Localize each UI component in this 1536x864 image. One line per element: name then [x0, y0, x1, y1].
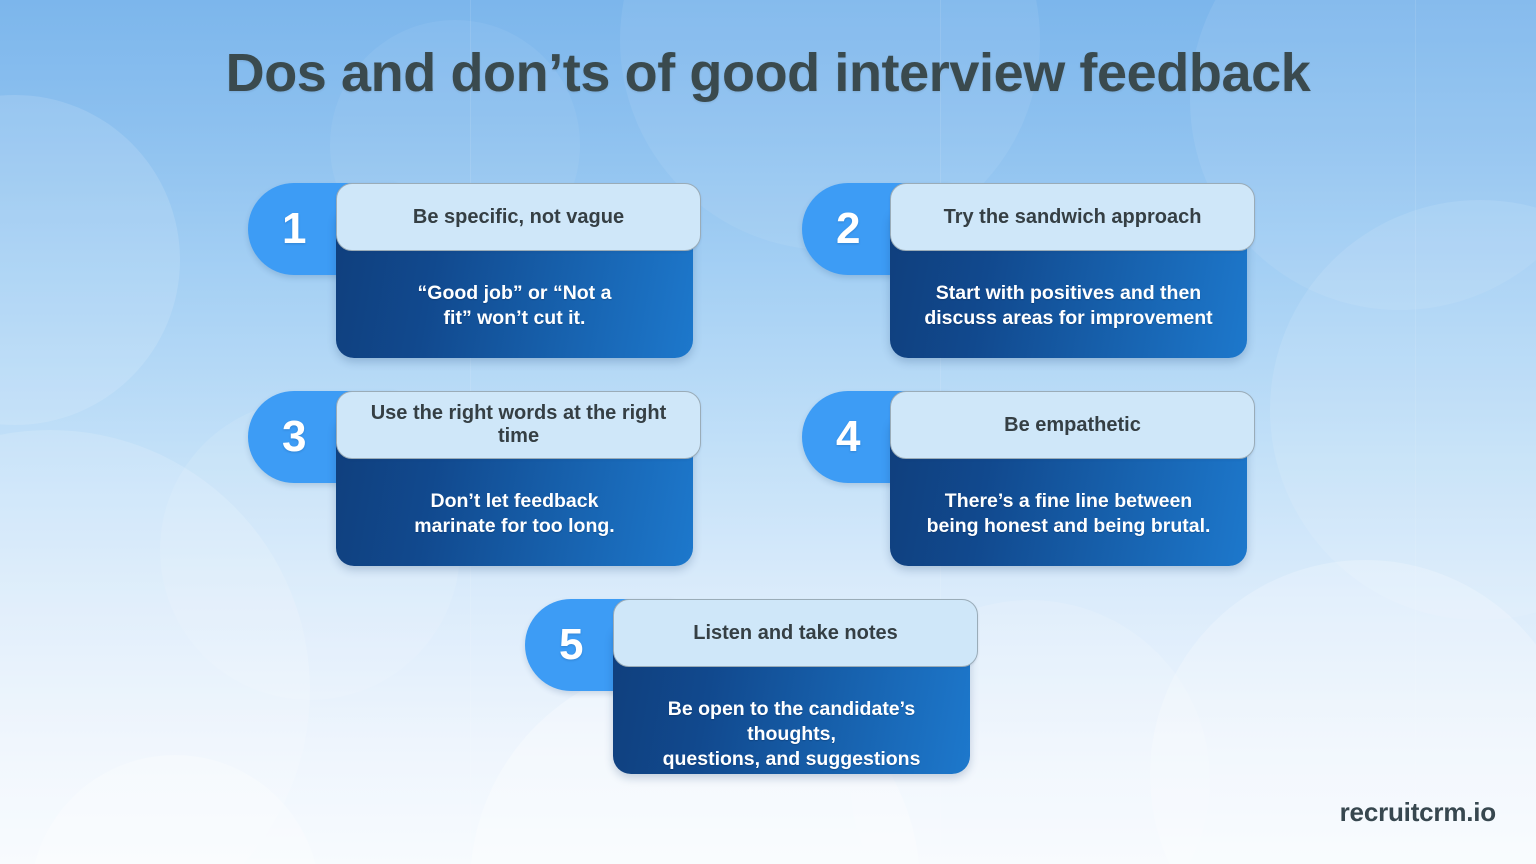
card-heading: Try the sandwich approach: [930, 206, 1216, 229]
brand-logo: recruitcrm.io: [1340, 797, 1496, 828]
card-heading: Be specific, not vague: [399, 206, 638, 229]
card-heading: Be empathetic: [990, 414, 1155, 437]
tip-card-4: 4 There’s a fine line betweenbeing hones…: [802, 391, 1247, 566]
card-header-5: Listen and take notes: [613, 599, 978, 667]
card-description: Be open to the candidate’s thoughts,ques…: [621, 697, 962, 772]
card-description: There’s a fine line betweenbeing honest …: [898, 489, 1239, 539]
number-label: 5: [559, 623, 583, 667]
number-label: 3: [282, 415, 306, 459]
background-band: [1415, 0, 1416, 864]
card-description: Start with positives and thendiscuss are…: [898, 281, 1239, 331]
card-heading: Use the right words at the right time: [337, 402, 700, 448]
number-label: 2: [836, 207, 860, 251]
background-circle: [0, 95, 180, 425]
card-description: “Good job” or “Not afit” won’t cut it.: [344, 281, 685, 331]
tip-card-2: 2 Start with positives and thendiscuss a…: [802, 183, 1247, 358]
tip-card-1: 1 “Good job” or “Not afit” won’t cut it.…: [248, 183, 693, 358]
card-header-1: Be specific, not vague: [336, 183, 701, 251]
infographic-canvas: Dos and don’ts of good interview feedbac…: [0, 0, 1536, 864]
number-label: 4: [836, 415, 860, 459]
tip-card-3: 3 Don’t let feedbackmarinate for too lon…: [248, 391, 693, 566]
background-circle: [1270, 200, 1536, 620]
background-circle: [30, 755, 320, 864]
card-header-4: Be empathetic: [890, 391, 1255, 459]
card-header-3: Use the right words at the right time: [336, 391, 701, 459]
card-heading: Listen and take notes: [679, 622, 912, 645]
number-label: 1: [282, 207, 306, 251]
card-description: Don’t let feedbackmarinate for too long.: [344, 489, 685, 539]
tip-card-5: 5 Be open to the candidate’s thoughts,qu…: [525, 599, 970, 774]
card-header-2: Try the sandwich approach: [890, 183, 1255, 251]
page-title: Dos and don’ts of good interview feedbac…: [0, 42, 1536, 104]
